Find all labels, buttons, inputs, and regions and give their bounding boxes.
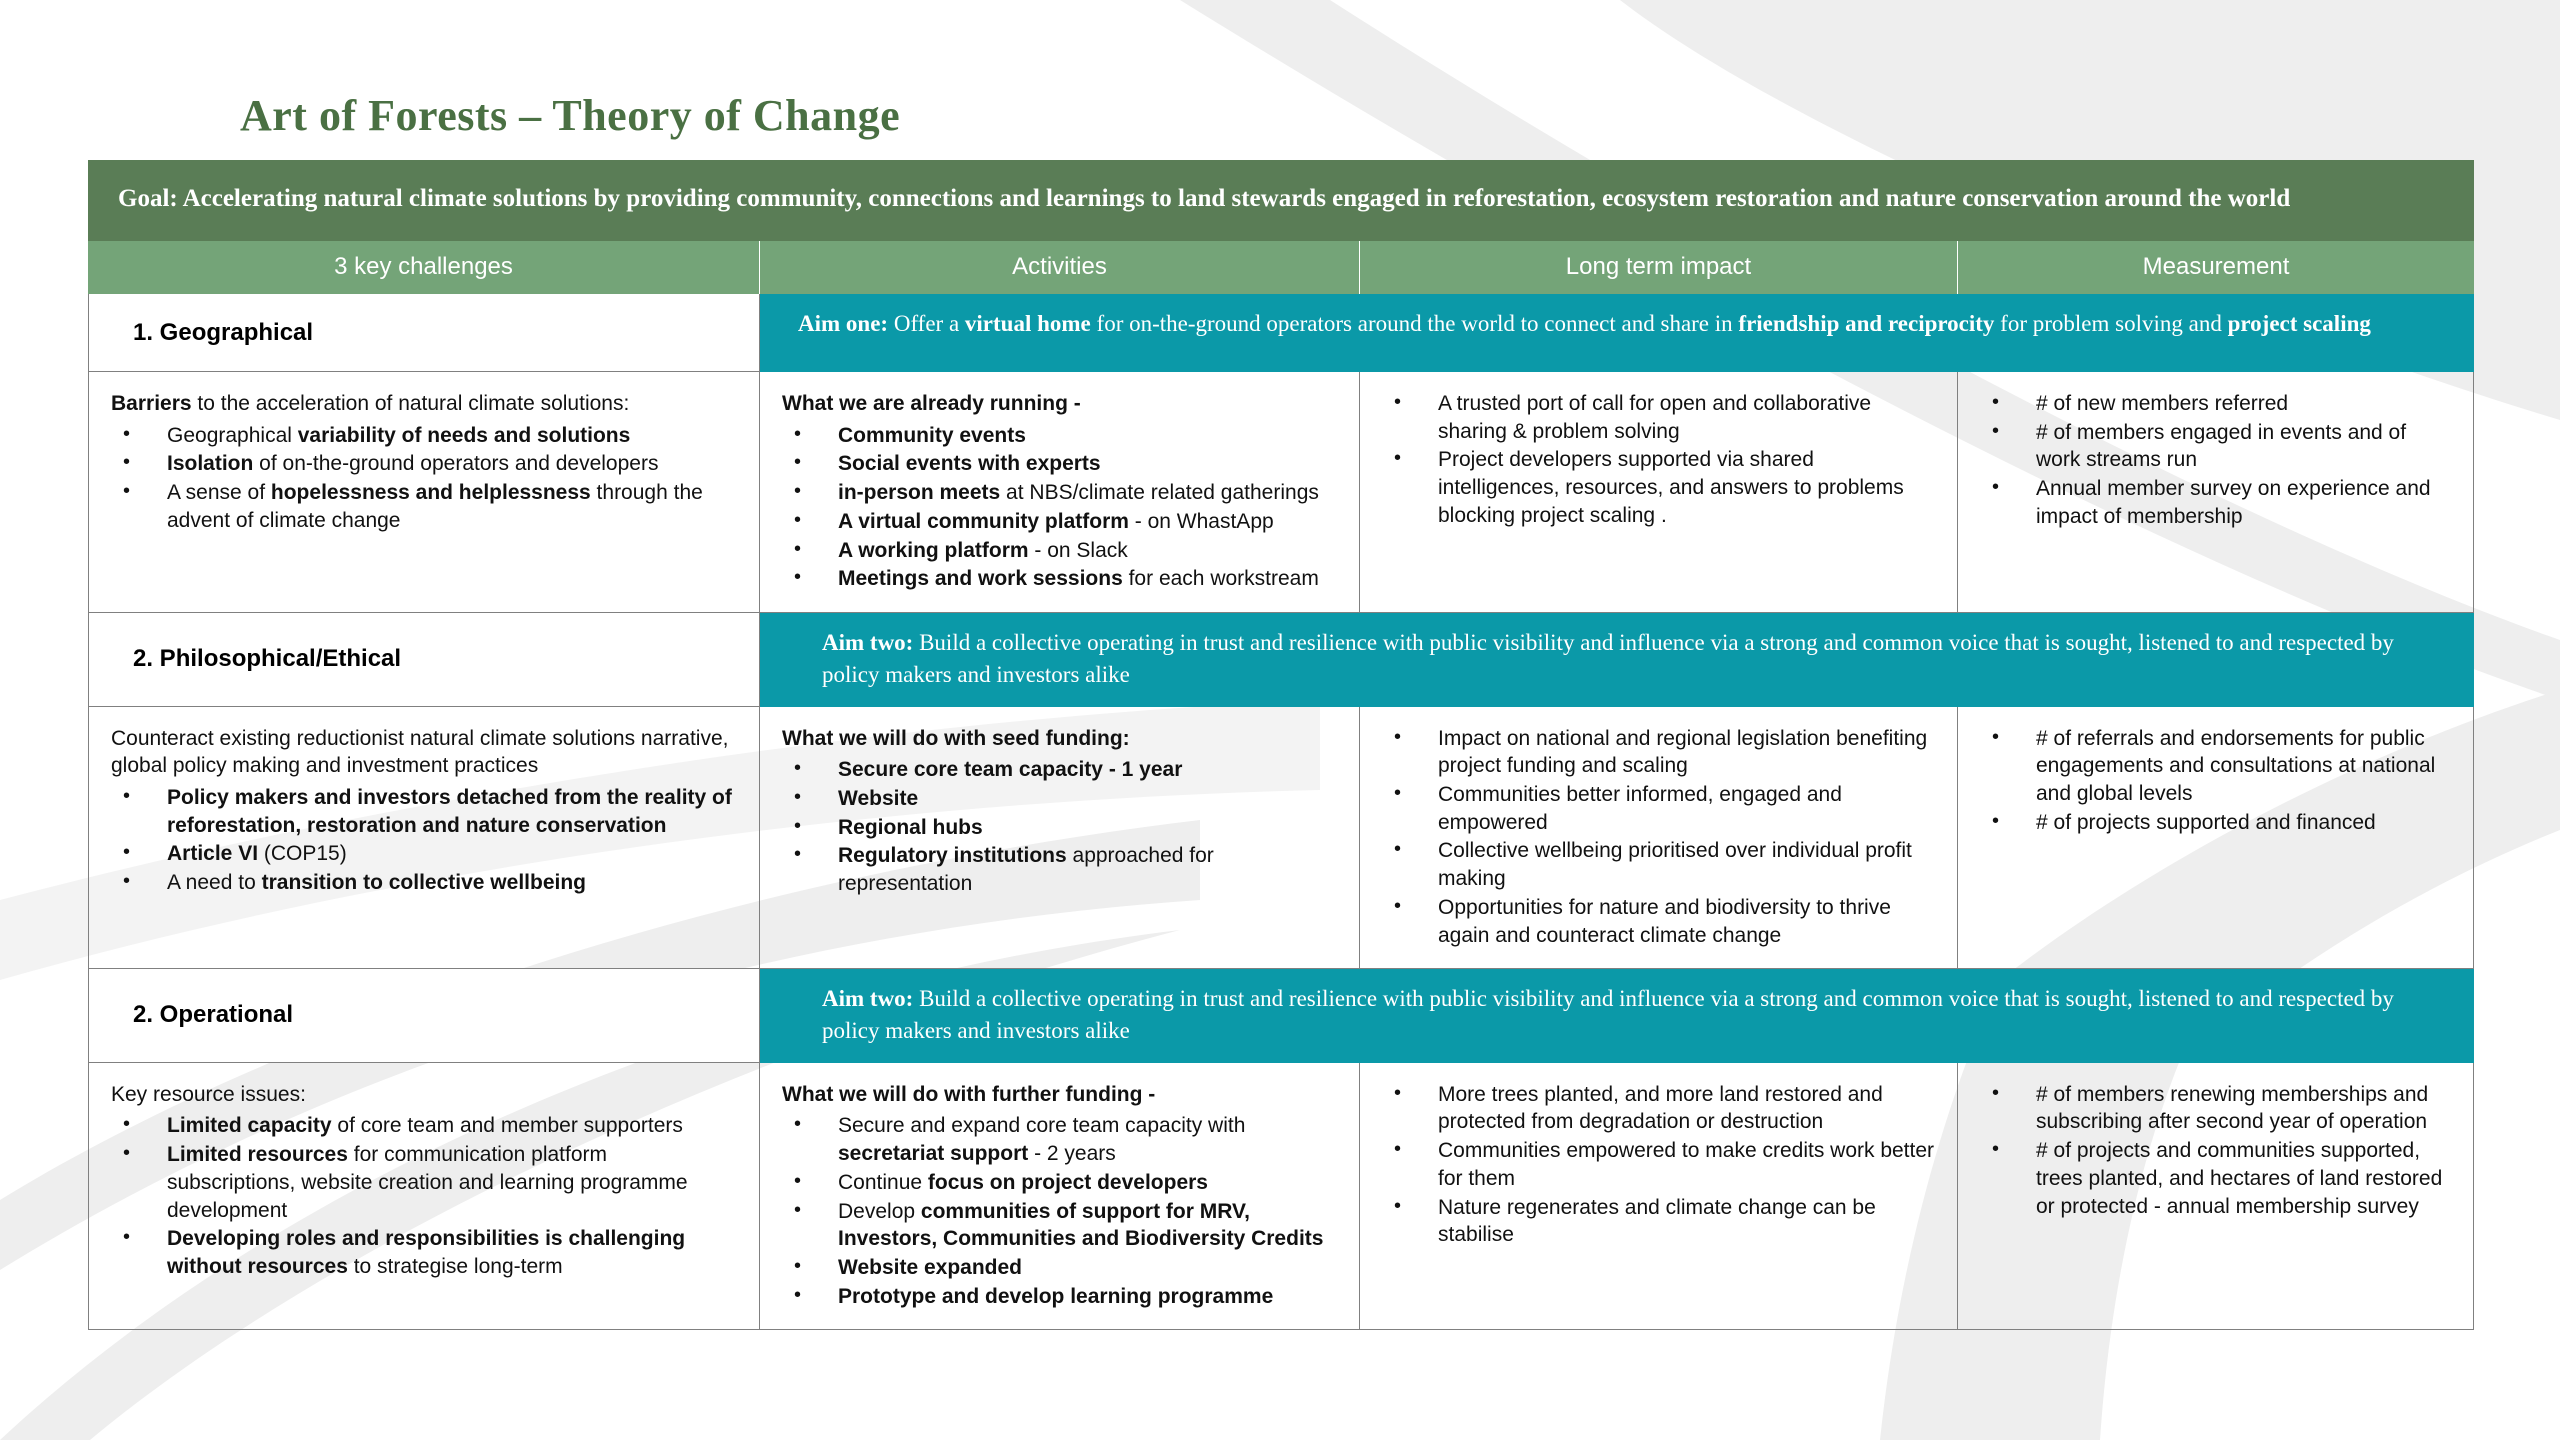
activities-cell: What we will do with seed funding:Secure… — [760, 707, 1360, 970]
list-item: A need to transition to collective wellb… — [111, 869, 741, 897]
bullet-emphasis: Secure core team capacity - 1 year — [838, 758, 1182, 781]
bullet-text: to strategise long-term — [348, 1255, 563, 1278]
section-aim-row: 2. OperationalAim two: Build a collectiv… — [88, 969, 2474, 1062]
list-item: Continue focus on project developers — [782, 1169, 1341, 1197]
bullet-text: # of new members referred — [2036, 392, 2288, 415]
aim-label: Aim two: — [822, 630, 913, 655]
bullet-emphasis: Article VI — [167, 842, 258, 865]
section-content-row: Barriers to the acceleration of natural … — [88, 372, 2474, 613]
bullet-emphasis: Meetings and work sessions — [838, 567, 1123, 590]
challenges-list: Limited capacity of core team and member… — [111, 1112, 741, 1280]
measurement-list: # of members renewing memberships and su… — [1980, 1081, 2455, 1221]
impact-cell: Impact on national and regional legislat… — [1360, 707, 1958, 970]
section-content-row: Counteract existing reductionist natural… — [88, 707, 2474, 970]
aim-text: for problem solving and — [1994, 311, 2227, 336]
bullet-text: Project developers supported via shared … — [1438, 448, 1904, 526]
column-header-long-term-impact: Long term impact — [1360, 241, 1958, 294]
aim-label: Aim two: — [822, 986, 913, 1011]
bullet-text: Communities empowered to make credits wo… — [1438, 1139, 1934, 1190]
cell-lead-text: What we are already running - — [782, 390, 1341, 418]
bullet-emphasis: A virtual community platform — [838, 510, 1129, 533]
aim-emphasis: project scaling — [2228, 311, 2371, 336]
list-item: Opportunities for nature and biodiversit… — [1382, 894, 1939, 949]
bullet-emphasis: Community events — [838, 424, 1026, 447]
cell-lead-emphasis: What we will do with further funding - — [782, 1083, 1155, 1106]
list-item: Nature regenerates and climate change ca… — [1382, 1194, 1939, 1249]
list-item: A virtual community platform - on WhastA… — [782, 508, 1341, 536]
page-title: Art of Forests – Theory of Change — [240, 90, 900, 141]
list-item: More trees planted, and more land restor… — [1382, 1081, 1939, 1136]
list-item: Regional hubs — [782, 814, 1341, 842]
list-item: Geographical variability of needs and so… — [111, 422, 741, 450]
list-item: Isolation of on-the-ground operators and… — [111, 450, 741, 478]
theory-of-change-matrix: Goal: Accelerating natural climate solut… — [88, 160, 2474, 1330]
impact-list: Impact on national and regional legislat… — [1382, 725, 1939, 950]
measurement-cell: # of new members referred# of members en… — [1958, 372, 2474, 613]
bullet-emphasis: Website — [838, 787, 918, 810]
bullet-text: Continue — [838, 1171, 928, 1194]
cell-lead-rest: Key resource issues: — [111, 1083, 306, 1106]
aim-text: Build a collective operating in trust an… — [822, 630, 2394, 687]
aim-banner: Aim one: Offer a virtual home for on-the… — [760, 294, 2474, 372]
list-item: Article VI (COP15) — [111, 840, 741, 868]
challenges-list: Geographical variability of needs and so… — [111, 422, 741, 535]
list-item: Website expanded — [782, 1254, 1341, 1282]
list-item: Limited capacity of core team and member… — [111, 1112, 741, 1140]
bullet-text: # of projects supported and financed — [2036, 811, 2376, 834]
column-header-row: 3 key challenges Activities Long term im… — [88, 241, 2474, 294]
aim-banner: Aim two: Build a collective operating in… — [760, 613, 2474, 706]
column-header-activities: Activities — [760, 241, 1360, 294]
cell-lead-emphasis: Barriers — [111, 392, 192, 415]
cell-lead-rest: to the acceleration of natural climate s… — [192, 392, 630, 415]
bullet-text: of core team and member supporters — [332, 1114, 683, 1137]
bullet-text: - on Slack — [1029, 539, 1128, 562]
list-item: Annual member survey on experience and i… — [1980, 475, 2455, 530]
bullet-emphasis: Isolation — [167, 452, 253, 475]
bullet-emphasis: hopelessness and helplessness — [271, 481, 591, 504]
bullet-emphasis: Website expanded — [838, 1256, 1022, 1279]
cell-lead-emphasis: What we are already running - — [782, 392, 1081, 415]
aim-text: Build a collective operating in trust an… — [822, 986, 2394, 1043]
bullet-text: A sense of — [167, 481, 271, 504]
list-item: Community events — [782, 422, 1341, 450]
measurement-list: # of new members referred# of members en… — [1980, 390, 2455, 531]
bullet-emphasis: secretariat support — [838, 1142, 1028, 1165]
bullet-text: More trees planted, and more land restor… — [1438, 1083, 1883, 1134]
bullet-text: Communities better informed, engaged and… — [1438, 783, 1842, 834]
challenge-title: 2. Operational — [133, 1001, 293, 1029]
bullet-emphasis: Social events with experts — [838, 452, 1101, 475]
list-item: # of referrals and endorsements for publ… — [1980, 725, 2455, 808]
challenges-cell: Counteract existing reductionist natural… — [88, 707, 760, 970]
bullet-emphasis: Prototype and develop learning programme — [838, 1285, 1273, 1308]
list-item: A trusted port of call for open and coll… — [1382, 390, 1939, 445]
list-item: Communities empowered to make credits wo… — [1382, 1137, 1939, 1192]
bullet-emphasis: Limited capacity — [167, 1114, 332, 1137]
list-item: Secure core team capacity - 1 year — [782, 756, 1341, 784]
activities-cell: What we are already running -Community e… — [760, 372, 1360, 613]
list-item: in-person meets at NBS/climate related g… — [782, 479, 1341, 507]
bullet-text: (COP15) — [258, 842, 347, 865]
list-item: Develop communities of support for MRV, … — [782, 1198, 1341, 1253]
bullet-emphasis: in-person meets — [838, 481, 1000, 504]
bullet-text: Impact on national and regional legislat… — [1438, 727, 1927, 778]
cell-lead-text: Barriers to the acceleration of natural … — [111, 390, 741, 418]
section-aim-row: 2. Philosophical/EthicalAim two: Build a… — [88, 613, 2474, 706]
bullet-text: at NBS/climate related gatherings — [1000, 481, 1319, 504]
activities-list: Community eventsSocial events with exper… — [782, 422, 1341, 593]
aim-text: Offer a — [888, 311, 965, 336]
list-item: Policy makers and investors detached fro… — [111, 784, 741, 839]
bullet-text: Develop — [838, 1200, 921, 1223]
list-item: Communities better informed, engaged and… — [1382, 781, 1939, 836]
bullet-emphasis: Policy makers and investors detached fro… — [167, 786, 732, 837]
challenge-title-cell[interactable]: 1. Geographical — [88, 294, 760, 372]
bullet-text: Collective wellbeing prioritised over in… — [1438, 839, 1912, 890]
challenges-list: Policy makers and investors detached fro… — [111, 784, 741, 897]
bullet-text: for each workstream — [1123, 567, 1319, 590]
bullet-text: # of members renewing memberships and su… — [2036, 1083, 2428, 1134]
cell-lead-rest: Counteract existing reductionist natural… — [111, 727, 728, 778]
list-item: Limited resources for communication plat… — [111, 1141, 741, 1224]
column-header-measurement: Measurement — [1958, 241, 2474, 294]
aim-banner: Aim two: Build a collective operating in… — [760, 969, 2474, 1062]
goal-label: Goal: — [118, 185, 178, 212]
bullet-emphasis: transition to collective wellbeing — [262, 871, 586, 894]
measurement-cell: # of referrals and endorsements for publ… — [1958, 707, 2474, 970]
list-item: A sense of hopelessness and helplessness… — [111, 479, 741, 534]
section-content-row: Key resource issues:Limited capacity of … — [88, 1063, 2474, 1331]
list-item: # of new members referred — [1980, 390, 2455, 418]
bullet-text: of on-the-ground operators and developer… — [253, 452, 658, 475]
list-item: Developing roles and responsibilities is… — [111, 1225, 741, 1280]
impact-cell: More trees planted, and more land restor… — [1360, 1063, 1958, 1331]
list-item: Regulatory institutions approached for r… — [782, 842, 1341, 897]
bullet-text: A trusted port of call for open and coll… — [1438, 392, 1871, 443]
cell-lead-text: Counteract existing reductionist natural… — [111, 725, 741, 780]
list-item: Prototype and develop learning programme — [782, 1283, 1341, 1311]
list-item: Project developers supported via shared … — [1382, 446, 1939, 529]
cell-lead-text: What we will do with seed funding: — [782, 725, 1341, 753]
bullet-text: Geographical — [167, 424, 298, 447]
list-item: Secure and expand core team capacity wit… — [782, 1112, 1341, 1167]
measurement-list: # of referrals and endorsements for publ… — [1980, 725, 2455, 837]
aim-emphasis: friendship and reciprocity — [1738, 311, 1994, 336]
list-item: # of projects and communities supported,… — [1980, 1137, 2455, 1220]
cell-lead-emphasis: What we will do with seed funding: — [782, 727, 1130, 750]
bullet-text: A need to — [167, 871, 262, 894]
challenges-cell: Barriers to the acceleration of natural … — [88, 372, 760, 613]
measurement-cell: # of members renewing memberships and su… — [1958, 1063, 2474, 1331]
bullet-text: # of members engaged in events and of wo… — [2036, 421, 2406, 472]
bullet-emphasis: A working platform — [838, 539, 1029, 562]
column-header-challenges: 3 key challenges — [88, 241, 760, 294]
list-item: Meetings and work sessions for each work… — [782, 565, 1341, 593]
challenge-title-cell[interactable]: 2. Operational — [88, 969, 760, 1062]
goal-banner: Goal: Accelerating natural climate solut… — [88, 160, 2474, 241]
bullet-emphasis: Regional hubs — [838, 816, 983, 839]
aim-text: for on-the-ground operators around the w… — [1091, 311, 1739, 336]
bullet-text: Secure and expand core team capacity wit… — [838, 1114, 1245, 1137]
bullet-text: - 2 years — [1028, 1142, 1116, 1165]
goal-text: Accelerating natural climate solutions b… — [183, 185, 2291, 212]
list-item: A working platform - on Slack — [782, 537, 1341, 565]
activities-list: Secure core team capacity - 1 yearWebsit… — [782, 756, 1341, 898]
bullet-emphasis: variability of needs and solutions — [298, 424, 631, 447]
activities-cell: What we will do with further funding -Se… — [760, 1063, 1360, 1331]
list-item: Website — [782, 785, 1341, 813]
bullet-emphasis: Regulatory institutions — [838, 844, 1067, 867]
bullet-emphasis: focus on project developers — [928, 1171, 1208, 1194]
impact-list: A trusted port of call for open and coll… — [1382, 390, 1939, 530]
list-item: Impact on national and regional legislat… — [1382, 725, 1939, 780]
list-item: # of members renewing memberships and su… — [1980, 1081, 2455, 1136]
bullet-text: # of projects and communities supported,… — [2036, 1139, 2442, 1217]
cell-lead-text: What we will do with further funding - — [782, 1081, 1341, 1109]
bullet-emphasis: Limited resources — [167, 1143, 348, 1166]
sections-container: 1. GeographicalAim one: Offer a virtual … — [88, 294, 2474, 1330]
bullet-text: - on WhastApp — [1129, 510, 1274, 533]
bullet-text: # of referrals and endorsements for publ… — [2036, 727, 2435, 805]
list-item: Collective wellbeing prioritised over in… — [1382, 837, 1939, 892]
challenge-title-cell[interactable]: 2. Philosophical/Ethical — [88, 613, 760, 706]
challenge-title: 2. Philosophical/Ethical — [133, 645, 401, 673]
impact-list: More trees planted, and more land restor… — [1382, 1081, 1939, 1249]
bullet-text: Nature regenerates and climate change ca… — [1438, 1196, 1876, 1247]
list-item: Social events with experts — [782, 450, 1341, 478]
bullet-text: Opportunities for nature and biodiversit… — [1438, 896, 1891, 947]
cell-lead-text: Key resource issues: — [111, 1081, 741, 1109]
challenges-cell: Key resource issues:Limited capacity of … — [88, 1063, 760, 1331]
challenge-title: 1. Geographical — [133, 319, 313, 347]
list-item: # of members engaged in events and of wo… — [1980, 419, 2455, 474]
list-item: # of projects supported and financed — [1980, 809, 2455, 837]
activities-list: Secure and expand core team capacity wit… — [782, 1112, 1341, 1310]
aim-label: Aim one: — [798, 311, 888, 336]
impact-cell: A trusted port of call for open and coll… — [1360, 372, 1958, 613]
aim-emphasis: virtual home — [965, 311, 1091, 336]
section-aim-row: 1. GeographicalAim one: Offer a virtual … — [88, 294, 2474, 372]
bullet-text: Annual member survey on experience and i… — [2036, 477, 2431, 528]
